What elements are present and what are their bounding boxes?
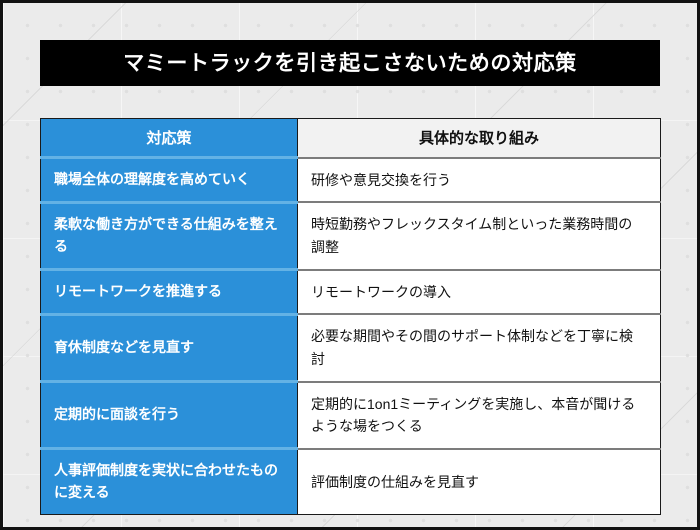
- cell-measure: 職場全体の理解度を高めていく: [41, 158, 298, 203]
- table-row: リモートワークを推進する リモートワークの導入: [41, 270, 661, 315]
- table-row: 人事評価制度を実状に合わせたものに変える 評価制度の仕組みを見直す: [41, 449, 661, 514]
- table-row: 定期的に面談を行う 定期的に1on1ミーティングを実施し、本音が聞けるような場を…: [41, 382, 661, 449]
- measures-table: 対応策 具体的な取り組み 職場全体の理解度を高めていく 研修や意見交換を行う 柔…: [40, 118, 661, 515]
- table-row: 職場全体の理解度を高めていく 研修や意見交換を行う: [41, 158, 661, 203]
- table-header: 対応策 具体的な取り組み: [41, 119, 661, 158]
- table-row: 柔軟な働き方ができる仕組みを整える 時短勤務やフレックスタイム制といった業務時間…: [41, 202, 661, 269]
- cell-action: 必要な期間やその間のサポート体制などを丁寧に検討: [298, 314, 661, 381]
- table-header-row: 対応策 具体的な取り組み: [41, 119, 661, 158]
- column-header-measure: 対応策: [41, 119, 298, 158]
- measures-table-container: 対応策 具体的な取り組み 職場全体の理解度を高めていく 研修や意見交換を行う 柔…: [40, 118, 660, 515]
- title-banner: マミートラックを引き起こさないための対応策: [40, 40, 660, 86]
- cell-action: 時短勤務やフレックスタイム制といった業務時間の調整: [298, 202, 661, 269]
- cell-measure: 定期的に面談を行う: [41, 382, 298, 449]
- table-row: 育休制度などを見直す 必要な期間やその間のサポート体制などを丁寧に検討: [41, 314, 661, 381]
- column-header-action: 具体的な取り組み: [298, 119, 661, 158]
- cell-action: リモートワークの導入: [298, 270, 661, 315]
- cell-action: 評価制度の仕組みを見直す: [298, 449, 661, 514]
- cell-measure: 人事評価制度を実状に合わせたものに変える: [41, 449, 298, 514]
- page-title: マミートラックを引き起こさないための対応策: [123, 53, 577, 74]
- table-body: 職場全体の理解度を高めていく 研修や意見交換を行う 柔軟な働き方ができる仕組みを…: [41, 158, 661, 515]
- infographic-canvas: マミートラックを引き起こさないための対応策 対応策 具体的な取り組み 職場全体の…: [0, 0, 700, 530]
- cell-measure: 柔軟な働き方ができる仕組みを整える: [41, 202, 298, 269]
- cell-action: 定期的に1on1ミーティングを実施し、本音が聞けるような場をつくる: [298, 382, 661, 449]
- cell-action: 研修や意見交換を行う: [298, 158, 661, 203]
- cell-measure: リモートワークを推進する: [41, 270, 298, 315]
- cell-measure: 育休制度などを見直す: [41, 314, 298, 381]
